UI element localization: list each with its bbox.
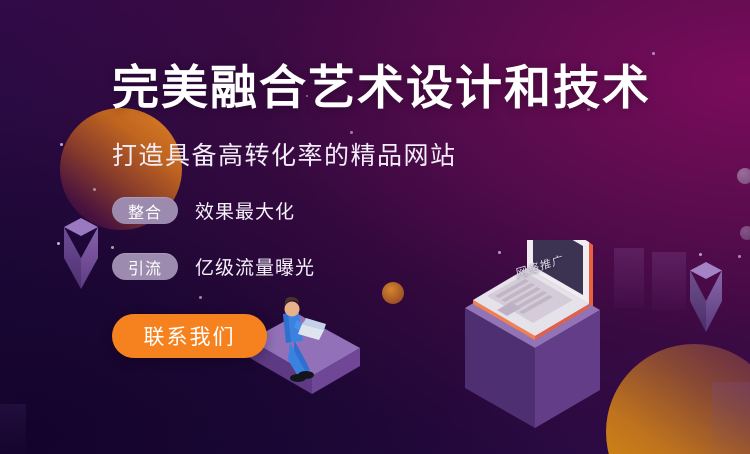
banner-content: 完美融合艺术设计和技术 打造具备高转化率的精品网站 整合 效果最大化 引流 亿级… (112, 62, 672, 358)
star-dot-icon (652, 52, 655, 55)
star-dot-icon (57, 242, 60, 245)
isometric-pillar-left-icon (64, 218, 98, 298)
promo-banner: 网络推广 完美融合艺术设计和技术 打造具备高转化率的精品网站 整合 效果最大化 … (0, 0, 750, 454)
grey-dot-circle-icon (737, 168, 750, 184)
feature-list: 整合 效果最大化 引流 亿级流量曝光 (112, 194, 672, 284)
feature-text: 效果最大化 (195, 197, 295, 224)
list-item: 整合 效果最大化 (112, 194, 672, 228)
status-badge: 引流 (112, 253, 178, 280)
isometric-pillar-right-icon (690, 262, 722, 340)
status-badge: 整合 (112, 197, 178, 224)
star-dot-icon (699, 253, 702, 256)
star-dot-icon (738, 255, 741, 258)
background-slab (0, 404, 26, 454)
background-slab (712, 382, 750, 454)
feature-text: 亿级流量曝光 (195, 253, 315, 280)
contact-us-button[interactable]: 联系我们 (112, 314, 267, 358)
banner-subtitle: 打造具备高转化率的精品网站 (112, 136, 672, 172)
grey-dot-circle-icon (740, 226, 750, 240)
star-dot-icon (60, 143, 63, 146)
list-item: 引流 亿级流量曝光 (112, 250, 672, 284)
star-dot-icon (93, 188, 96, 191)
page-title: 完美融合艺术设计和技术 (112, 62, 672, 114)
